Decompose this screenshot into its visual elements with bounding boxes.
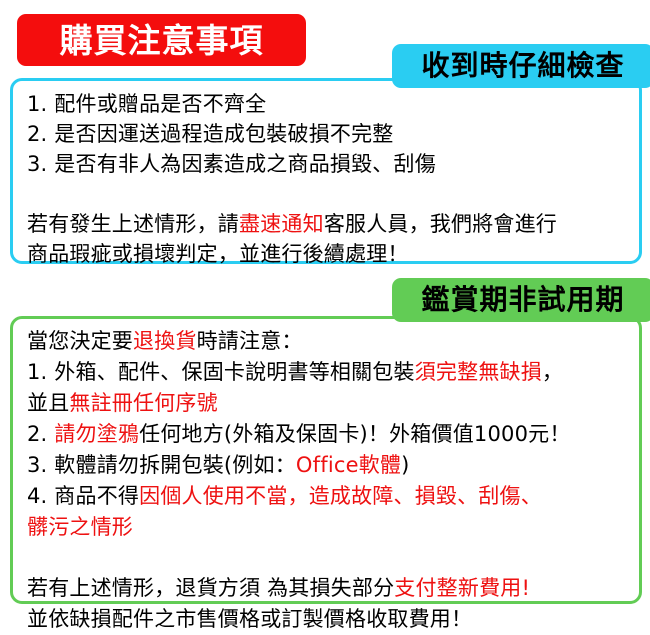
plain-text: 任何地方(外箱及保固卡)！外箱價值1000元！ — [139, 422, 570, 446]
page-title: 購買注意事項 — [60, 24, 264, 57]
plain-text: 4. 商品不得 — [27, 484, 139, 508]
notice-line: 當您決定要退換貨時請注意： — [27, 326, 625, 357]
section-badge-inspect-on-arrival: 收到時仔細檢查 — [392, 44, 650, 88]
section-box-inspect-on-arrival: 1. 配件或贈品是否不齊全2. 是否因運送過程造成包裝破損不完整3. 是否有非人… — [10, 78, 642, 264]
plain-text: 商品瑕疵或損壞判定，並進行後續處理！ — [27, 242, 409, 266]
section-badge-label: 收到時仔細檢查 — [421, 52, 624, 80]
paragraph-spacer — [27, 543, 625, 573]
plain-text: ) — [401, 453, 409, 477]
plain-text: 並且 — [27, 391, 69, 415]
highlighted-text: 支付整新費用! — [394, 576, 530, 600]
plain-text: 2. — [27, 422, 54, 446]
highlighted-text: Office軟體 — [296, 453, 401, 477]
section-box-trial-period-notice: 當您決定要退換貨時請注意：1. 外箱、配件、保固卡說明書等相關包裝須完整無缺損，… — [10, 316, 642, 604]
notice-line: 2. 請勿塗鴉任何地方(外箱及保固卡)！外箱價值1000元！ — [27, 419, 625, 450]
plain-text: 3. 是否有非人為因素造成之商品損毀、刮傷 — [27, 152, 436, 176]
notice-line: 1. 外箱、配件、保固卡說明書等相關包裝須完整無缺損， — [27, 357, 625, 388]
plain-text: 客服人員，我們將會進行 — [324, 212, 557, 236]
notice-line: 並且無註冊任何序號 — [27, 388, 625, 419]
highlighted-text: 髒污之情形 — [27, 515, 133, 539]
notice-line: 3. 是否有非人為因素造成之商品損毀、刮傷 — [27, 149, 625, 179]
plain-text: ， — [542, 360, 563, 384]
plain-text: 3. 軟體請勿拆開包裝(例如： — [27, 453, 296, 477]
paragraph-spacer — [27, 179, 625, 209]
section-content-0: 1. 配件或贈品是否不齊全2. 是否因運送過程造成包裝破損不完整3. 是否有非人… — [13, 81, 639, 269]
section-badge-label: 鑑賞期非試用期 — [421, 286, 624, 314]
highlighted-text: 退換貨 — [133, 329, 197, 353]
notice-line: 1. 配件或贈品是否不齊全 — [27, 89, 625, 119]
plain-text: 時請注意： — [197, 329, 303, 353]
notice-line: 3. 軟體請勿拆開包裝(例如：Office軟體) — [27, 450, 625, 481]
highlighted-text: 須完整無缺損 — [415, 360, 542, 384]
plain-text: 若有發生上述情形，請 — [27, 212, 239, 236]
plain-text: 當您決定要 — [27, 329, 133, 353]
section-content-1: 當您決定要退換貨時請注意：1. 外箱、配件、保固卡說明書等相關包裝須完整無缺損，… — [13, 319, 639, 635]
plain-text: 2. 是否因運送過程造成包裝破損不完整 — [27, 122, 394, 146]
notice-line: 並依缺損配件之市售價格或訂製價格收取費用！ — [27, 604, 625, 635]
notice-line: 若有發生上述情形，請盡速通知客服人員，我們將會進行 — [27, 209, 625, 239]
notice-line: 2. 是否因運送過程造成包裝破損不完整 — [27, 119, 625, 149]
notice-line: 髒污之情形 — [27, 512, 625, 543]
highlighted-text: 請勿塗鴉 — [54, 422, 139, 446]
section-badge-trial-period-notice: 鑑賞期非試用期 — [392, 278, 650, 322]
highlighted-text: 無註冊任何序號 — [69, 391, 217, 415]
highlighted-text: 盡速通知 — [239, 212, 324, 236]
notice-line: 若有上述情形，退貨方須 為其損失部分支付整新費用! — [27, 573, 625, 604]
plain-text: 1. 配件或贈品是否不齊全 — [27, 92, 266, 116]
plain-text: 1. 外箱、配件、保固卡說明書等相關包裝 — [27, 360, 415, 384]
highlighted-text: 因個人使用不當，造成故障、損毀、刮傷、 — [139, 484, 542, 508]
plain-text: 若有上述情形，退貨方須 為其損失部分 — [27, 576, 394, 600]
notice-line: 商品瑕疵或損壞判定，並進行後續處理！ — [27, 239, 625, 269]
notice-line: 4. 商品不得因個人使用不當，造成故障、損毀、刮傷、 — [27, 481, 625, 512]
plain-text: 並依缺損配件之市售價格或訂製價格收取費用！ — [27, 607, 472, 631]
page-title-badge: 購買注意事項 — [17, 14, 306, 66]
